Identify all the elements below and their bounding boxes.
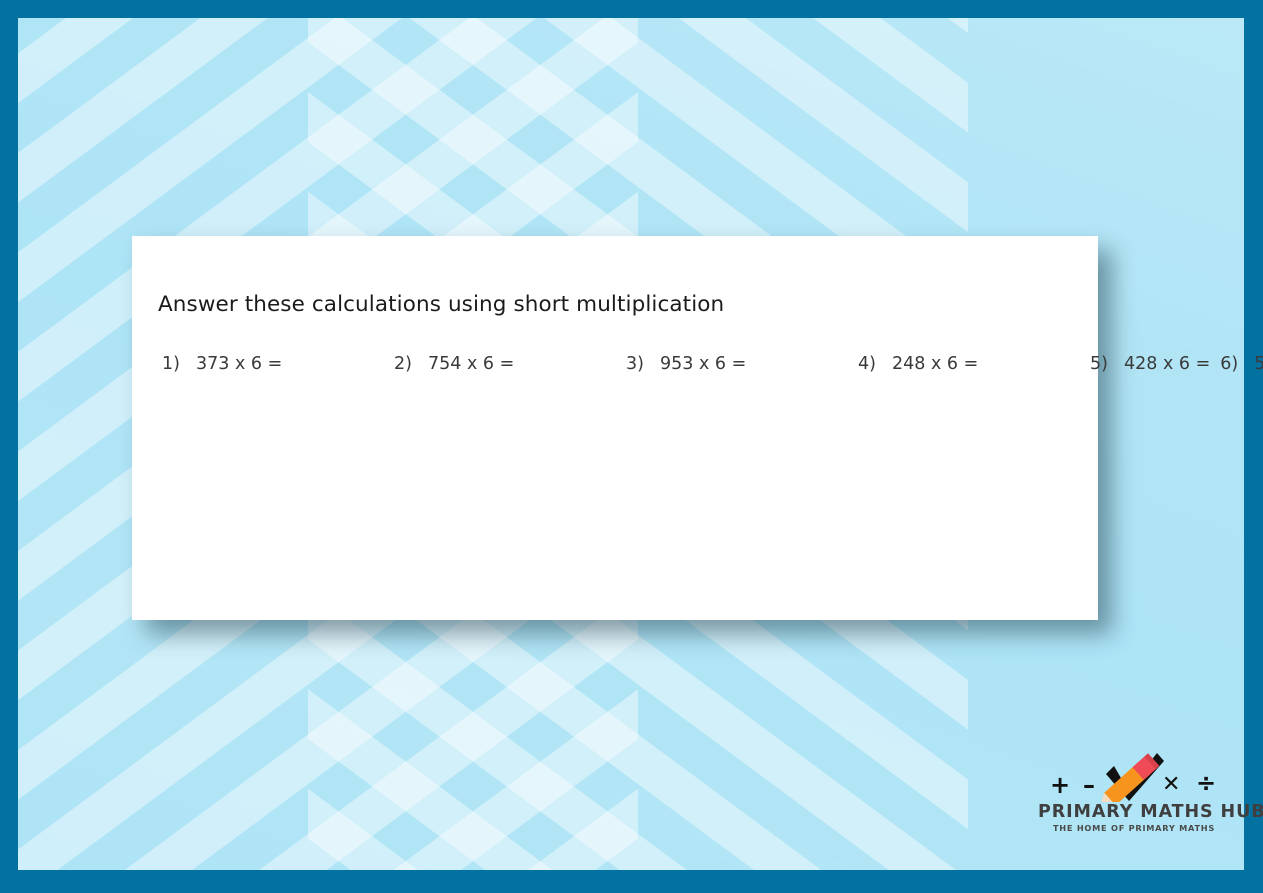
divide-icon: ÷	[1196, 771, 1216, 795]
logo-tagline: THE HOME OF PRIMARY MATHS	[1038, 823, 1230, 833]
question-expression: 754 x 6 =	[428, 354, 514, 374]
question-number: 6)	[1210, 354, 1254, 374]
question-item: 4)248 x 6 =	[848, 341, 1080, 386]
logo-title: PRIMARY MATHS HUB	[1038, 802, 1230, 822]
question-grid: 1)373 x 6 =2)754 x 6 =3)953 x 6 =4)248 x…	[152, 341, 1078, 386]
question-number: 2)	[384, 354, 428, 374]
pencil-check-icon	[1094, 752, 1166, 802]
question-number: 4)	[848, 354, 892, 374]
question-item: 2)754 x 6 =	[384, 341, 616, 386]
primary-maths-hub-logo: + – ✕ ÷	[1038, 757, 1230, 835]
question-number: 5)	[1080, 354, 1124, 374]
question-item: 1)373 x 6 =	[152, 341, 384, 386]
question-item: 6)598 x 6 =	[1210, 341, 1263, 386]
question-item: 5)428 x 6 =	[1080, 341, 1210, 386]
question-expression: 373 x 6 =	[196, 354, 282, 374]
question-item: 3)953 x 6 =	[616, 341, 848, 386]
plus-icon: +	[1050, 773, 1070, 797]
question-number: 3)	[616, 354, 660, 374]
question-expression: 248 x 6 =	[892, 354, 978, 374]
question-number: 1)	[152, 354, 196, 374]
worksheet-card: Answer these calculations using short mu…	[132, 236, 1098, 620]
question-expression: 953 x 6 =	[660, 354, 746, 374]
question-expression: 428 x 6 =	[1124, 354, 1210, 374]
page-title: Answer these calculations using short mu…	[158, 292, 724, 317]
worksheet-page: Answer these calculations using short mu…	[0, 0, 1263, 893]
question-expression: 598 x 6 =	[1254, 354, 1263, 374]
logo-math-symbols: + – ✕ ÷	[1038, 757, 1230, 801]
